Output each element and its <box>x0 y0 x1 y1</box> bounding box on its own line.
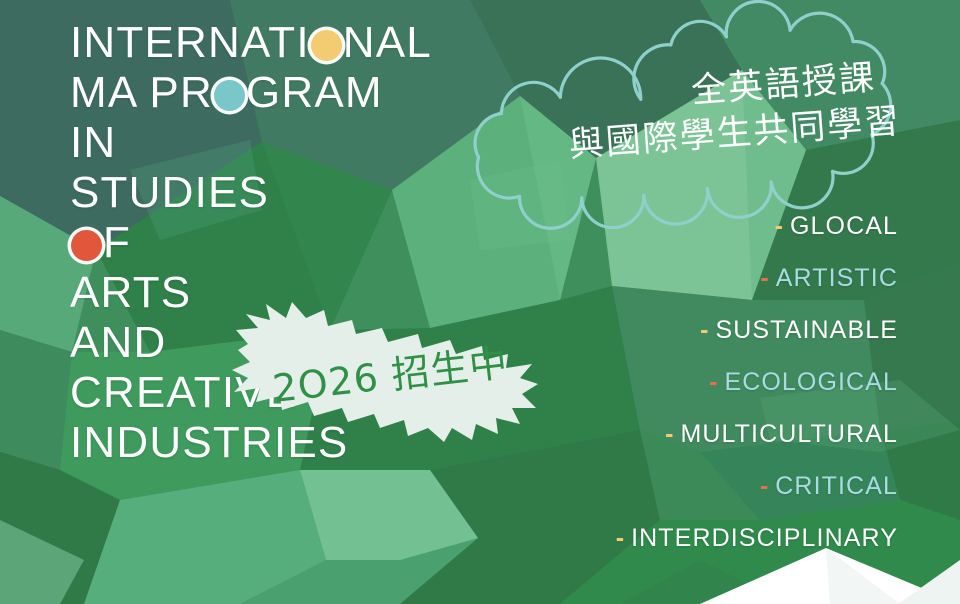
headline-text: IN <box>70 118 116 167</box>
keyword-dash: - <box>760 266 768 291</box>
keyword-dash: - <box>665 422 673 447</box>
keyword-list: - GLOCAL - ARTISTIC - SUSTAINABLE - ECOL… <box>616 200 898 564</box>
headline-text: AND <box>70 318 167 367</box>
headline-text: STUDIES <box>70 168 269 217</box>
keyword-item-critical: - CRITICAL <box>760 460 898 512</box>
letter-o-dot-blue <box>214 80 245 111</box>
keyword-item-sustainable: - SUSTAINABLE <box>700 304 898 356</box>
cloud-outline-icon <box>460 10 912 220</box>
headline-text: GRAM <box>246 68 383 117</box>
keyword-label: CRITICAL <box>775 474 898 499</box>
headline-text: INTERNATI <box>70 18 310 67</box>
starburst-shape-icon <box>232 300 542 445</box>
keyword-item-ecological: - ECOLOGICAL <box>709 356 898 408</box>
keyword-dash: - <box>700 318 708 343</box>
keyword-item-artistic: - ARTISTIC <box>760 252 898 304</box>
keyword-dash: - <box>709 370 717 395</box>
keyword-item-interdisciplinary: - INTERDISCIPLINARY <box>616 512 898 564</box>
keyword-label: SUSTAINABLE <box>715 318 898 343</box>
headline-text: MA PR <box>70 68 213 117</box>
headline-text: NAL <box>343 18 432 67</box>
headline-text: F <box>103 218 131 267</box>
keyword-dash: - <box>616 526 624 551</box>
keyword-label: INTERDISCIPLINARY <box>631 526 898 551</box>
letter-o-dot-red <box>71 230 102 261</box>
headline-line: F <box>70 218 550 268</box>
cloud-speech-bubble: 全英語授課 與國際學生共同學習 <box>460 10 912 220</box>
keyword-label: ECOLOGICAL <box>724 370 898 395</box>
headline-text: ARTS <box>70 268 191 317</box>
keyword-dash: - <box>760 474 768 499</box>
letter-o-dot-yellow <box>311 30 342 61</box>
keyword-item-multicultural: - MULTICULTURAL <box>665 408 898 460</box>
poster-canvas: INTERNATINAL MA PRGRAM IN STUDIES F ARTS… <box>0 0 960 604</box>
keyword-label: GLOCAL <box>790 214 898 239</box>
keyword-dash: - <box>775 214 783 239</box>
keyword-label: ARTISTIC <box>776 266 898 291</box>
admissions-badge: 2O26 招生中 <box>232 300 542 445</box>
keyword-label: MULTICULTURAL <box>680 422 898 447</box>
